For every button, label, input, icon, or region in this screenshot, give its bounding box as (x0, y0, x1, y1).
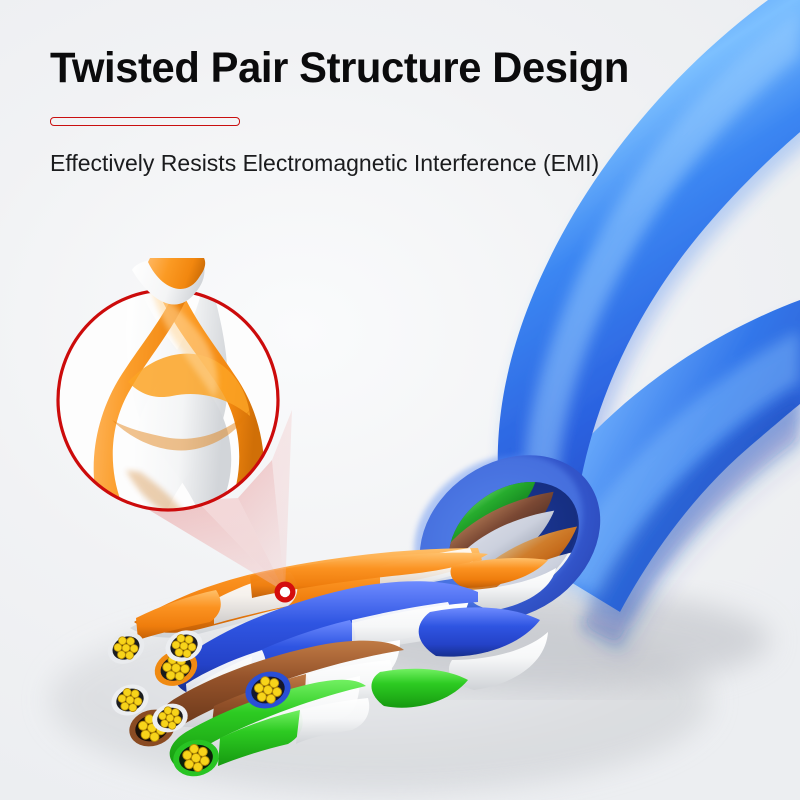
callout-target-marker (275, 582, 296, 603)
red-pill-divider (50, 117, 240, 126)
banner-canvas: Twisted Pair Structure Design Effectivel… (0, 0, 800, 800)
header-text-block: Twisted Pair Structure Design Effectivel… (50, 46, 750, 177)
page-title: Twisted Pair Structure Design (50, 46, 729, 91)
page-subtitle: Effectively Resists Electromagnetic Inte… (50, 150, 750, 177)
